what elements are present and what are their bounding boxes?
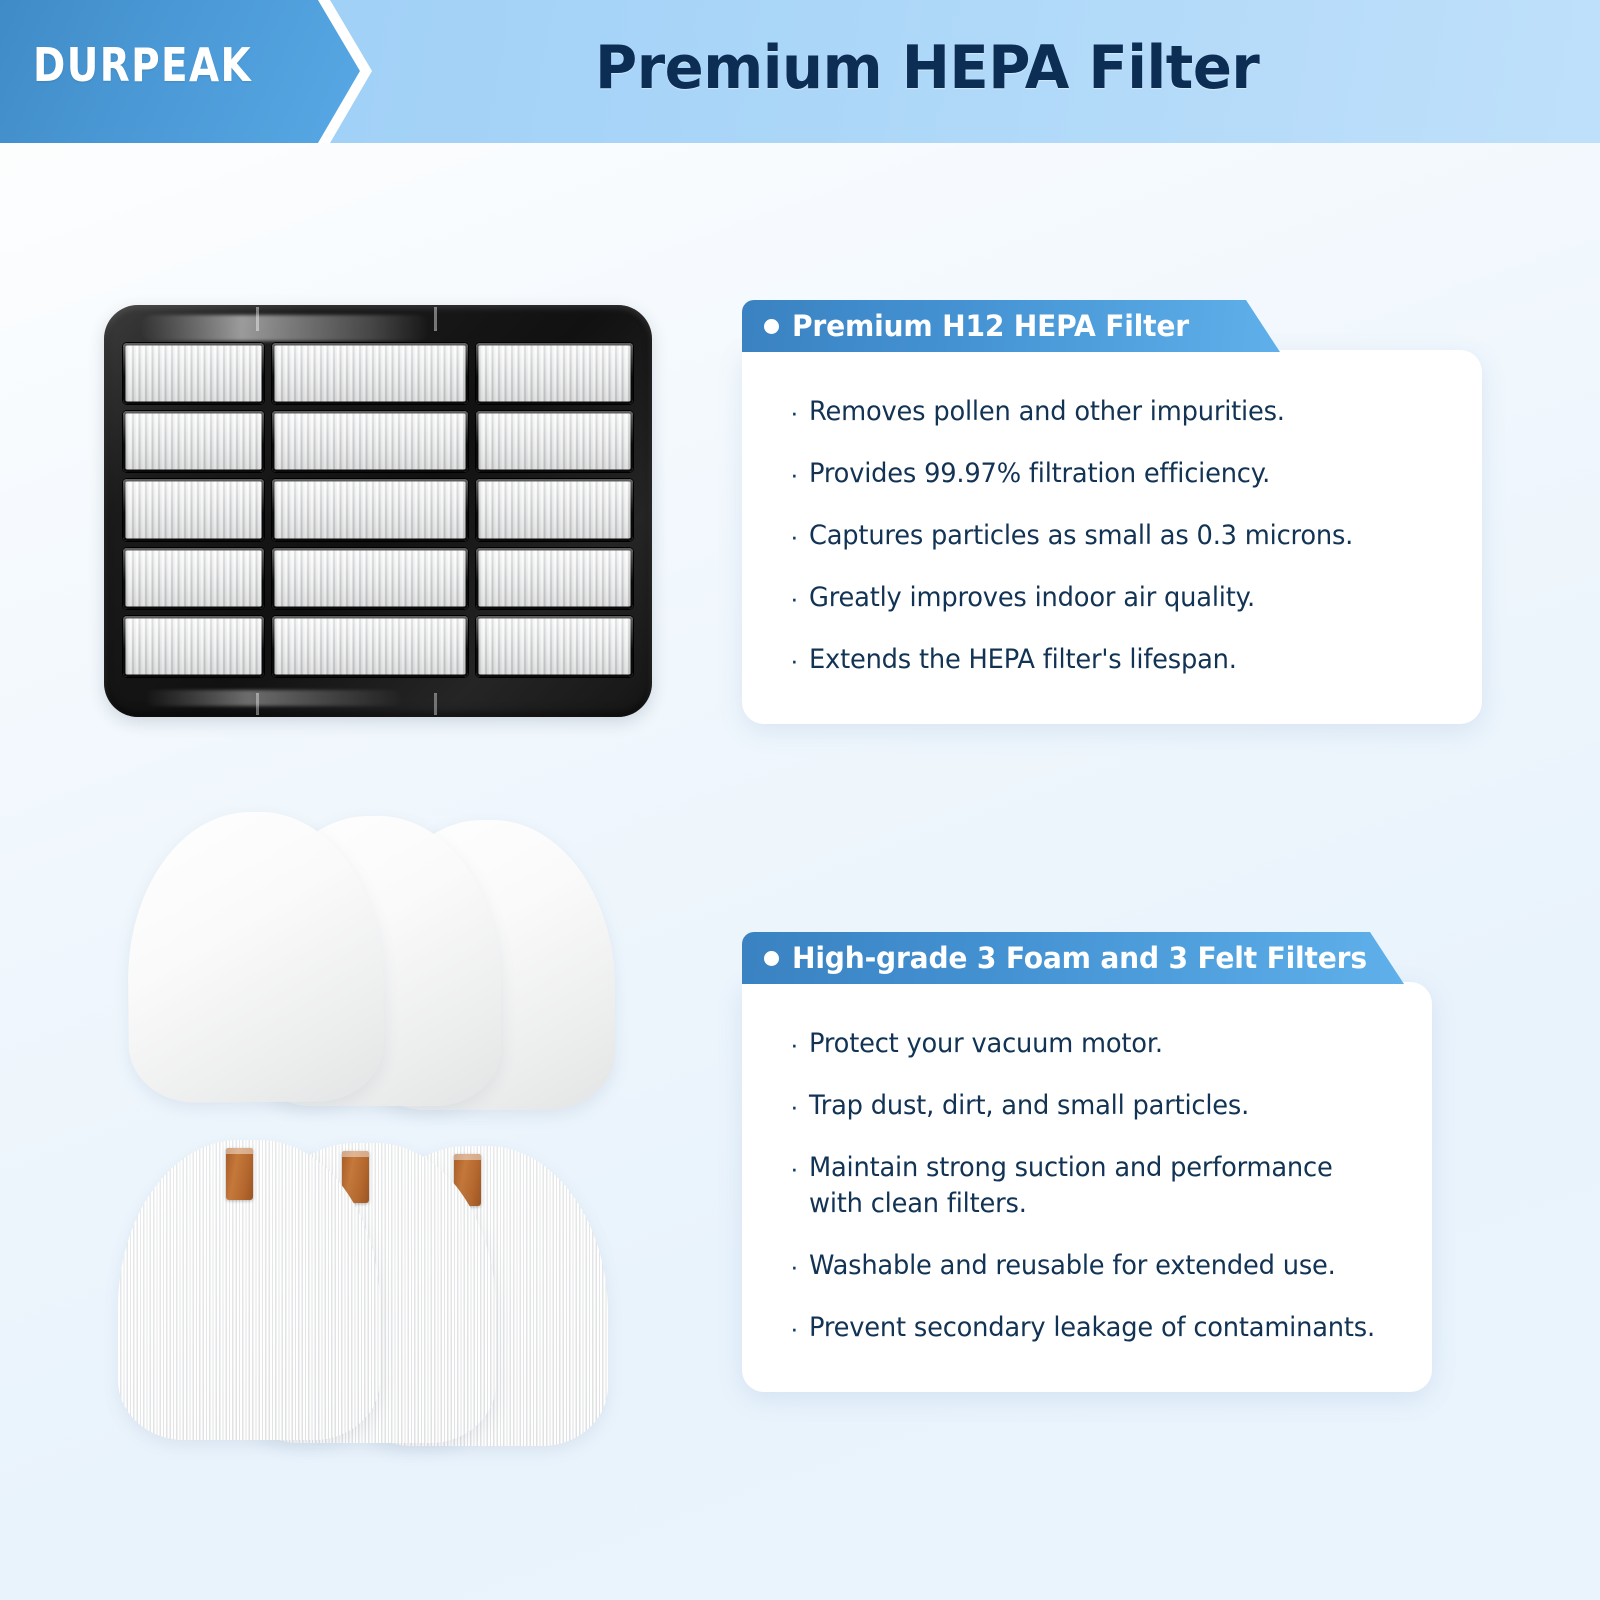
pleat-cell (476, 548, 633, 609)
pleat-cell (272, 411, 468, 472)
bullet-marker-icon: · (790, 1248, 799, 1284)
list-item: · Trap dust, dirt, and small particles. (790, 1088, 1398, 1124)
list-item-text: Washable and reusable for extended use. (809, 1248, 1336, 1284)
page-header: DURPEAK Premium HEPA Filter (0, 0, 1600, 143)
list-item: · Greatly improves indoor air quality. (790, 580, 1448, 616)
infographic-page: DURPEAK Premium HEPA Filter (0, 0, 1600, 1600)
list-item-text: Greatly improves indoor air quality. (809, 580, 1255, 616)
bullet-marker-icon: · (790, 1088, 799, 1124)
hepa-pleat-grid (123, 343, 633, 677)
bullet-marker-icon: · (790, 456, 799, 492)
list-item-text: Provides 99.97% filtration efficiency. (809, 456, 1270, 492)
pleat-cell (476, 616, 633, 677)
list-item-text: Maintain strong suction and performance … (809, 1150, 1381, 1222)
bullet-dot-icon (764, 951, 779, 966)
bullet-marker-icon: · (790, 642, 799, 678)
list-item: · Removes pollen and other impurities. (790, 394, 1448, 430)
pleat-cell (123, 616, 264, 677)
feature-card-hepa-tab: Premium H12 HEPA Filter (742, 300, 1280, 352)
feature-card-hepa: Premium H12 HEPA Filter · Removes pollen… (742, 300, 1482, 724)
bullet-marker-icon: · (790, 518, 799, 554)
bullet-marker-icon: · (790, 394, 799, 430)
pleat-cell (123, 411, 264, 472)
pleat-cell (272, 343, 468, 404)
pleat-cell (272, 479, 468, 540)
hepa-frame-notch-top-left (256, 307, 259, 331)
pleat-cell (476, 343, 633, 404)
hepa-frame-notch-bottom-right (434, 693, 437, 715)
list-item: · Captures particles as small as 0.3 mic… (790, 518, 1448, 554)
felt-filters-photo (118, 1140, 658, 1470)
felt-filter-pad (118, 1140, 380, 1440)
bullet-marker-icon: · (790, 1150, 799, 1186)
feature-card-foam-felt-tab: High-grade 3 Foam and 3 Felt Filters (742, 932, 1404, 984)
foam-filters-photo (128, 812, 658, 1132)
pleat-cell (272, 616, 468, 677)
list-item-text: Protect your vacuum motor. (809, 1026, 1163, 1062)
list-item: · Extends the HEPA filter's lifespan. (790, 642, 1448, 678)
hepa-frame-notch-bottom-left (256, 693, 259, 715)
feature-card-foam-felt: High-grade 3 Foam and 3 Felt Filters · P… (742, 932, 1432, 1392)
feature-card-hepa-body: · Removes pollen and other impurities. ·… (742, 350, 1482, 724)
pleat-cell (476, 479, 633, 540)
list-item-text: Removes pollen and other impurities. (809, 394, 1285, 430)
hepa-frame-notch-top-right (434, 307, 437, 331)
feature-card-foam-felt-title: High-grade 3 Foam and 3 Felt Filters (792, 941, 1367, 975)
list-item: · Protect your vacuum motor. (790, 1026, 1398, 1062)
list-item: · Prevent secondary leakage of contamina… (790, 1310, 1398, 1346)
pleat-cell (272, 548, 468, 609)
list-item-text: Trap dust, dirt, and small particles. (809, 1088, 1249, 1124)
felt-pull-tab-icon (226, 1148, 253, 1200)
list-item-text: Extends the HEPA filter's lifespan. (809, 642, 1237, 678)
list-item: · Maintain strong suction and performanc… (790, 1150, 1398, 1222)
list-item-text: Captures particles as small as 0.3 micro… (809, 518, 1353, 554)
list-item: · Provides 99.97% filtration efficiency. (790, 456, 1448, 492)
brand-logo: DURPEAK (33, 38, 252, 92)
hepa-frame-highlight-top (140, 315, 430, 341)
bullet-marker-icon: · (790, 1026, 799, 1062)
bullet-marker-icon: · (790, 580, 799, 616)
page-title: Premium HEPA Filter (595, 33, 1259, 103)
pleat-cell (123, 548, 264, 609)
list-item: · Washable and reusable for extended use… (790, 1248, 1398, 1284)
list-item-text: Prevent secondary leakage of contaminant… (809, 1310, 1375, 1346)
bullet-dot-icon (764, 319, 779, 334)
pleat-cell (123, 343, 264, 404)
hepa-frame-highlight-bottom (144, 690, 404, 706)
pleat-cell (123, 479, 264, 540)
bullet-marker-icon: · (790, 1310, 799, 1346)
hepa-filter-photo (104, 305, 652, 717)
pleat-cell (476, 411, 633, 472)
feature-card-foam-felt-body: · Protect your vacuum motor. · Trap dust… (742, 982, 1432, 1392)
feature-card-hepa-title: Premium H12 HEPA Filter (792, 309, 1189, 343)
